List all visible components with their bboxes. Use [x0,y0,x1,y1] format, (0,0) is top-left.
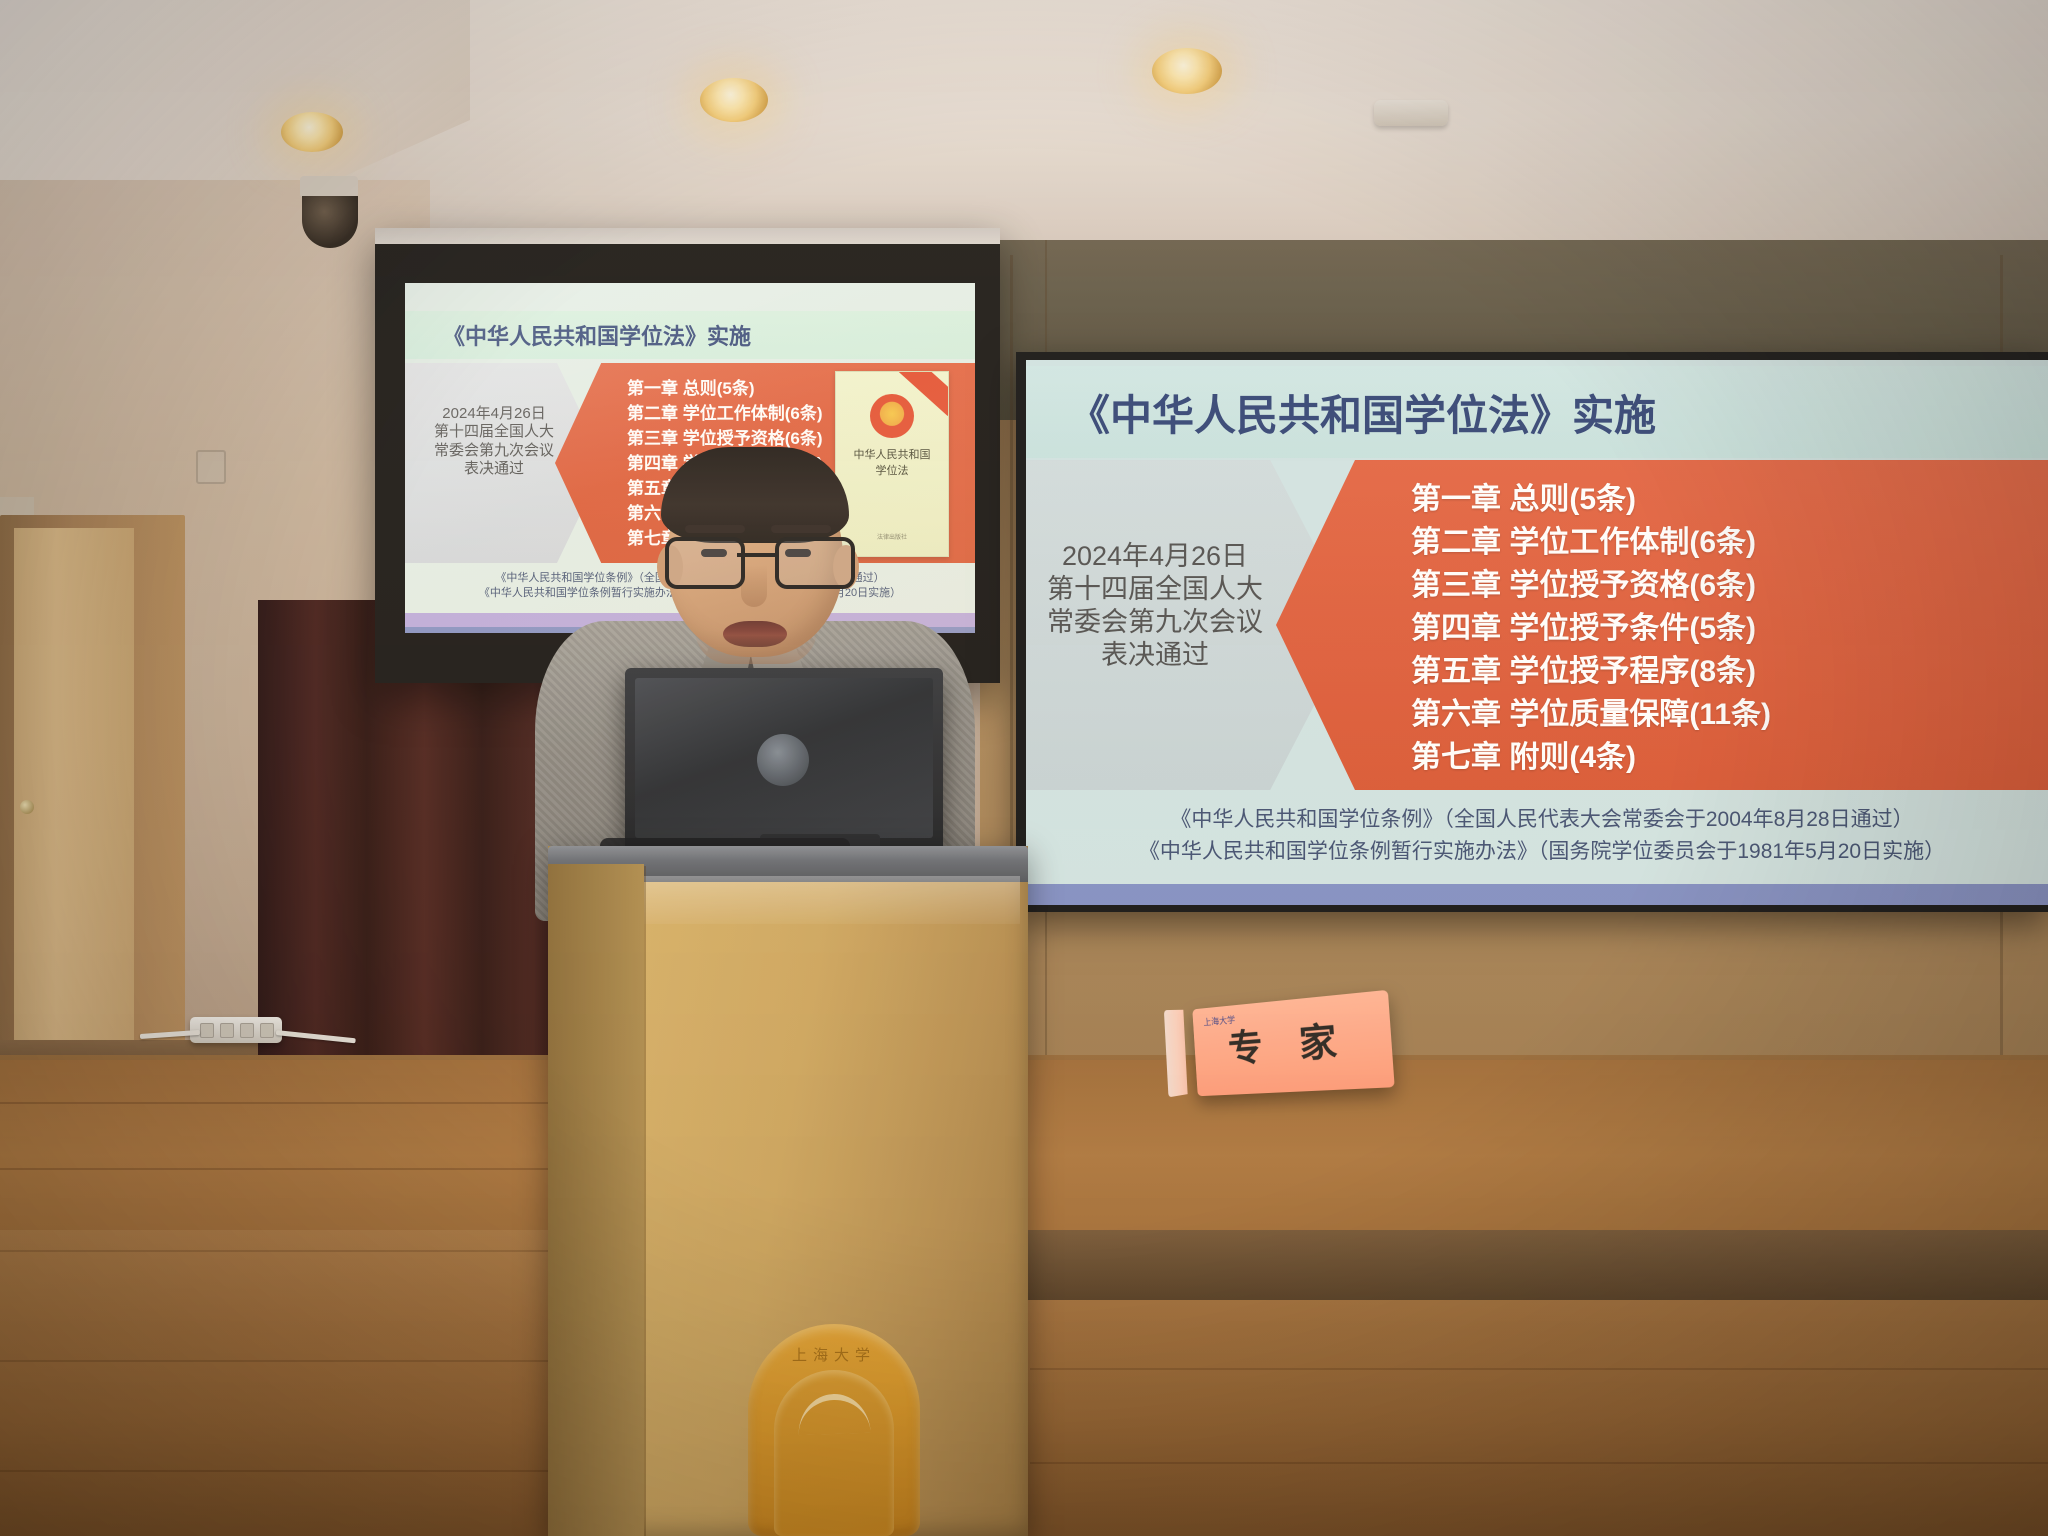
wall-outlet[interactable] [196,450,226,484]
slide-title-band: 《中华人民共和国学位法》实施 [405,311,975,359]
chapter-item: 第二章 学位工作体制(6条) [627,401,831,426]
power-strip[interactable] [190,1017,282,1043]
door[interactable] [14,528,134,1073]
shanghai-university-emblem: 上海大学 [748,1324,920,1536]
ceiling-light [281,112,343,152]
date-line: 第十四届全国人大 [1030,573,1280,606]
podium-left-face [548,864,644,1536]
slide-title-text: 《中华人民共和国学位法》实施 [1068,382,1656,443]
slide-accent-blue [1026,884,2048,905]
date-line: 常委会第九次会议 [1030,606,1280,639]
screen-top-bar [375,228,1000,244]
date-line: 表决通过 [1030,639,1280,672]
ceiling-light [700,78,768,122]
chapter-item: 第二章 学位工作体制(6条) [1411,521,1771,564]
chin-shadow [695,630,817,664]
chapter-item: 第一章 总则(5条) [627,376,831,401]
presenter-monitor[interactable] [625,668,943,860]
chapter-item: 第四章 学位授予条件(5条) [1411,607,1771,650]
chapter-list: 第一章 总则(5条) 第二章 学位工作体制(6条) 第三章 学位授予资格(6条)… [1411,478,1771,779]
emblem-top-text: 上海大学 [748,1344,920,1365]
date-line: 2024年4月26日 [1030,540,1280,573]
chapter-item: 第五章 学位授予程序(8条) [1411,650,1771,693]
door-knob[interactable] [20,800,34,814]
date-block: 2024年4月26日 第十四届全国人大 常委会第九次会议 表决通过 [1030,540,1280,672]
led-display: 《中华人民共和国学位法》实施 2024年4月26日 第十四届全国人大 常委会第九… [1016,352,2048,912]
chapter-item: 第三章 学位授予资格(6条) [1411,564,1771,607]
chapter-item: 第七章 附则(4条) [1411,736,1771,779]
smoke-detector [1374,100,1448,126]
footnote-line: 《中华人民共和国学位条例》（全国人民代表大会常委会于2004年8月28日通过） [1026,804,2048,836]
lecture-hall-photo: 《中华人民共和国学位法》实施 2024年4月26日 第十四届全国人大 常委会第九… [0,0,2048,1536]
footnote-line: 《中华人民共和国学位条例暂行实施办法》（国务院学位委员会于1981年5月20日实… [1026,836,2048,868]
slide-footnotes: 《中华人民共和国学位条例》（全国人民代表大会常委会于2004年8月28日通过） … [1026,804,2048,867]
podium: 上海大学 [548,846,1028,1536]
slide-right: 《中华人民共和国学位法》实施 2024年4月26日 第十四届全国人大 常委会第九… [1026,360,2048,905]
ceiling-light [1152,48,1222,94]
eyeglasses [665,537,847,583]
chapter-item: 第一章 总则(5条) [1411,478,1771,521]
date-line: 2024年4月26日 [409,405,579,423]
chapter-item: 第六章 学位质量保障(11条) [1411,693,1771,736]
slide-title-band: 《中华人民共和国学位法》实施 [1026,366,2048,458]
nameplate: 上海大学 专 家 [1192,990,1394,1096]
monitor-logo-icon [757,734,809,786]
slide-title-text: 《中华人民共和国学位法》实施 [443,319,751,351]
slide-surface: 《中华人民共和国学位法》实施 2024年4月26日 第十四届全国人大 常委会第九… [1026,360,2048,905]
